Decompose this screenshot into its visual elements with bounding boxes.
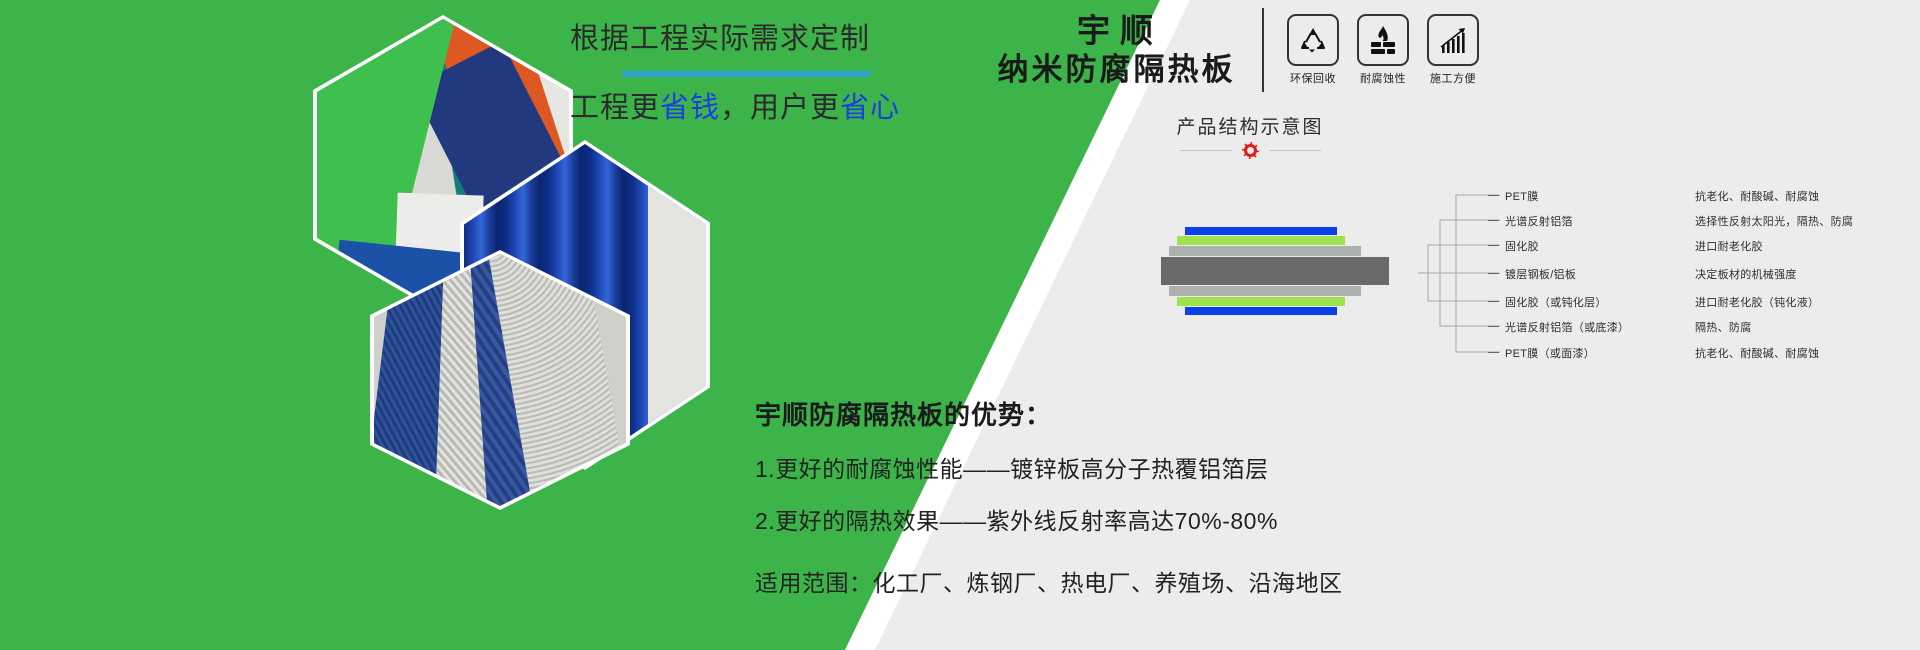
label-dash — [1488, 273, 1499, 274]
layer-label: 固化胶（或钝化层） — [1505, 294, 1607, 310]
ornament-line-left — [1180, 150, 1232, 151]
advantage-item: 1.更好的耐腐蚀性能——镀锌板高分子热覆铝箔层 — [755, 450, 1915, 484]
headline-highlight-2: 省心 — [840, 92, 900, 124]
badge-frame — [1287, 14, 1339, 66]
feature-badges: 环保回收 耐腐蚀性 — [1286, 14, 1480, 86]
badge-caption: 环保回收 — [1286, 70, 1340, 86]
brand-names: 宇顺 纳米防腐隔热板 — [990, 10, 1240, 90]
advantages-title: 宇顺防腐隔热板的优势： — [755, 395, 1915, 432]
layer-description: 抗老化、耐酸碱、耐腐蚀 — [1695, 345, 1819, 361]
headline-primary: 根据工程实际需求定制 — [570, 22, 870, 57]
brand-name: 宇顺 — [990, 10, 1240, 51]
left-headline-block: 根据工程实际需求定制 工程更省钱，用户更省心 — [570, 22, 870, 126]
layer-description: 抗老化、耐酸碱、耐腐蚀 — [1695, 188, 1819, 204]
headline-secondary-part2: ，用户更 — [720, 92, 840, 124]
label-dash — [1488, 220, 1499, 221]
growth-chart-icon — [1436, 23, 1470, 57]
ornament-line-right — [1269, 150, 1321, 151]
layer-description: 进口耐老化胶 — [1695, 238, 1763, 254]
layer-label: 光谱反射铝箔 — [1505, 213, 1573, 229]
badge-frame — [1357, 14, 1409, 66]
advantage-item: 2.更好的隔热效果——紫外线反射率高达70%-80% — [755, 502, 1915, 536]
advantages-title-colon: ： — [1025, 400, 1052, 430]
layer-label: PET膜 — [1505, 188, 1539, 204]
badge-installation: 施工方便 — [1426, 14, 1480, 86]
badge-caption: 施工方便 — [1426, 70, 1480, 86]
fire-brick-icon — [1366, 23, 1400, 57]
badge-caption: 耐腐蚀性 — [1356, 70, 1410, 86]
advantages-title-text: 宇顺防腐隔热板的优势 — [755, 400, 1025, 430]
headline-secondary-part1: 工程更 — [570, 92, 660, 124]
headline-secondary: 工程更省钱，用户更省心 — [570, 91, 870, 126]
badge-frame — [1427, 14, 1479, 66]
advantages-block: 宇顺防腐隔热板的优势： 1.更好的耐腐蚀性能——镀锌板高分子热覆铝箔层 2.更好… — [755, 395, 1915, 598]
layer-label: PET膜（或面漆） — [1505, 345, 1595, 361]
layer-label: 镀层钢板/铝板 — [1505, 266, 1576, 282]
product-name: 纳米防腐隔热板 — [990, 51, 1240, 90]
section-title: 产品结构示意图 — [970, 112, 1530, 139]
label-dash — [1488, 245, 1499, 246]
right-content-panel: 宇顺 纳米防腐隔热板 — [1190, 0, 1920, 650]
layer-label: 光谱反射铝箔（或底漆） — [1505, 319, 1629, 335]
label-dash — [1488, 326, 1499, 327]
structure-diagram: PET膜 光谱反射铝箔 固化胶 镀层钢板/铝板 固化胶（或钝化层） 光谱反射铝箔… — [790, 175, 1910, 375]
brand-row: 宇顺 纳米防腐隔热板 — [990, 8, 1630, 92]
label-dash — [1488, 301, 1499, 302]
layer-description: 选择性反射太阳光，隔热、防腐 — [1695, 213, 1853, 229]
recycle-icon — [1296, 23, 1330, 57]
application-scope: 适用范围：化工厂、炼钢厂、热电厂、养殖场、沿海地区 — [755, 564, 1915, 598]
headline-highlight-1: 省钱 — [660, 92, 720, 124]
layer-description: 进口耐老化胶（钝化液） — [1695, 294, 1819, 310]
label-dash — [1488, 352, 1499, 353]
layer-label: 固化胶 — [1505, 238, 1539, 254]
brand-divider — [1262, 8, 1264, 92]
layer-description: 隔热、防腐 — [1695, 319, 1752, 335]
layer-description: 决定板材的机械强度 — [1695, 266, 1797, 282]
label-dash — [1488, 195, 1499, 196]
headline-rule — [622, 71, 870, 77]
badge-recycle: 环保回收 — [1286, 14, 1340, 86]
section-ornament — [970, 142, 1530, 159]
product-banner: 根据工程实际需求定制 工程更省钱，用户更省心 宇顺 纳米防腐隔热板 — [0, 0, 1920, 650]
gear-icon — [1242, 142, 1259, 159]
badge-corrosion: 耐腐蚀性 — [1356, 14, 1410, 86]
